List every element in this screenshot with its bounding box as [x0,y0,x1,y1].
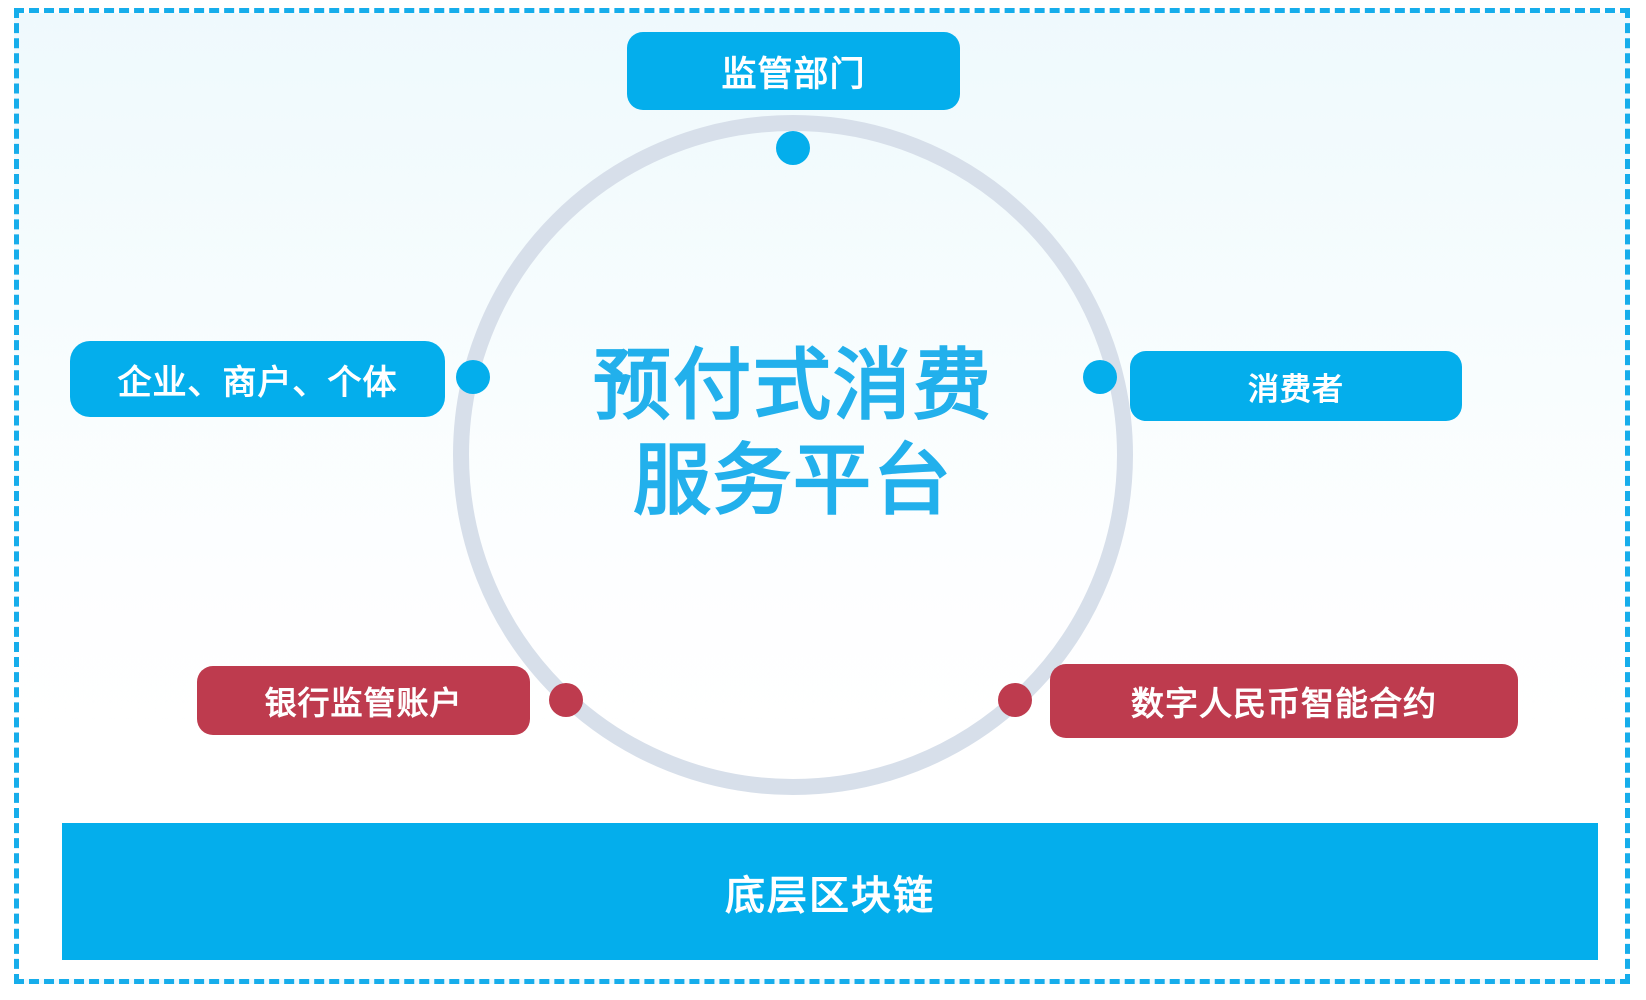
node-enterprise-label: 企业、商户、个体 [118,355,398,404]
foundation-blockchain-label: 底层区块链 [725,863,935,921]
diagram-canvas: 预付式消费 服务平台 监管部门 企业、商户、个体 消费者 银行监管账户 数字人民… [0,0,1646,1000]
node-bank-account[interactable]: 银行监管账户 [197,666,530,735]
node-consumer-label: 消费者 [1248,364,1344,409]
foundation-blockchain-bar[interactable]: 底层区块链 [62,823,1598,960]
node-regulator[interactable]: 监管部门 [627,32,960,110]
node-regulator-label: 监管部门 [721,46,865,97]
node-enterprise[interactable]: 企业、商户、个体 [70,341,445,417]
node-digital-rmb-smart-contract-label: 数字人民币智能合约 [1131,677,1437,725]
node-bank-account-label: 银行监管账户 [264,678,462,724]
node-consumer[interactable]: 消费者 [1130,351,1462,421]
center-title-line-1: 预付式消费 [533,338,1053,433]
node-digital-rmb-smart-contract[interactable]: 数字人民币智能合约 [1050,664,1518,738]
center-platform-title: 预付式消费 服务平台 [533,338,1053,528]
center-title-line-2: 服务平台 [533,433,1053,528]
